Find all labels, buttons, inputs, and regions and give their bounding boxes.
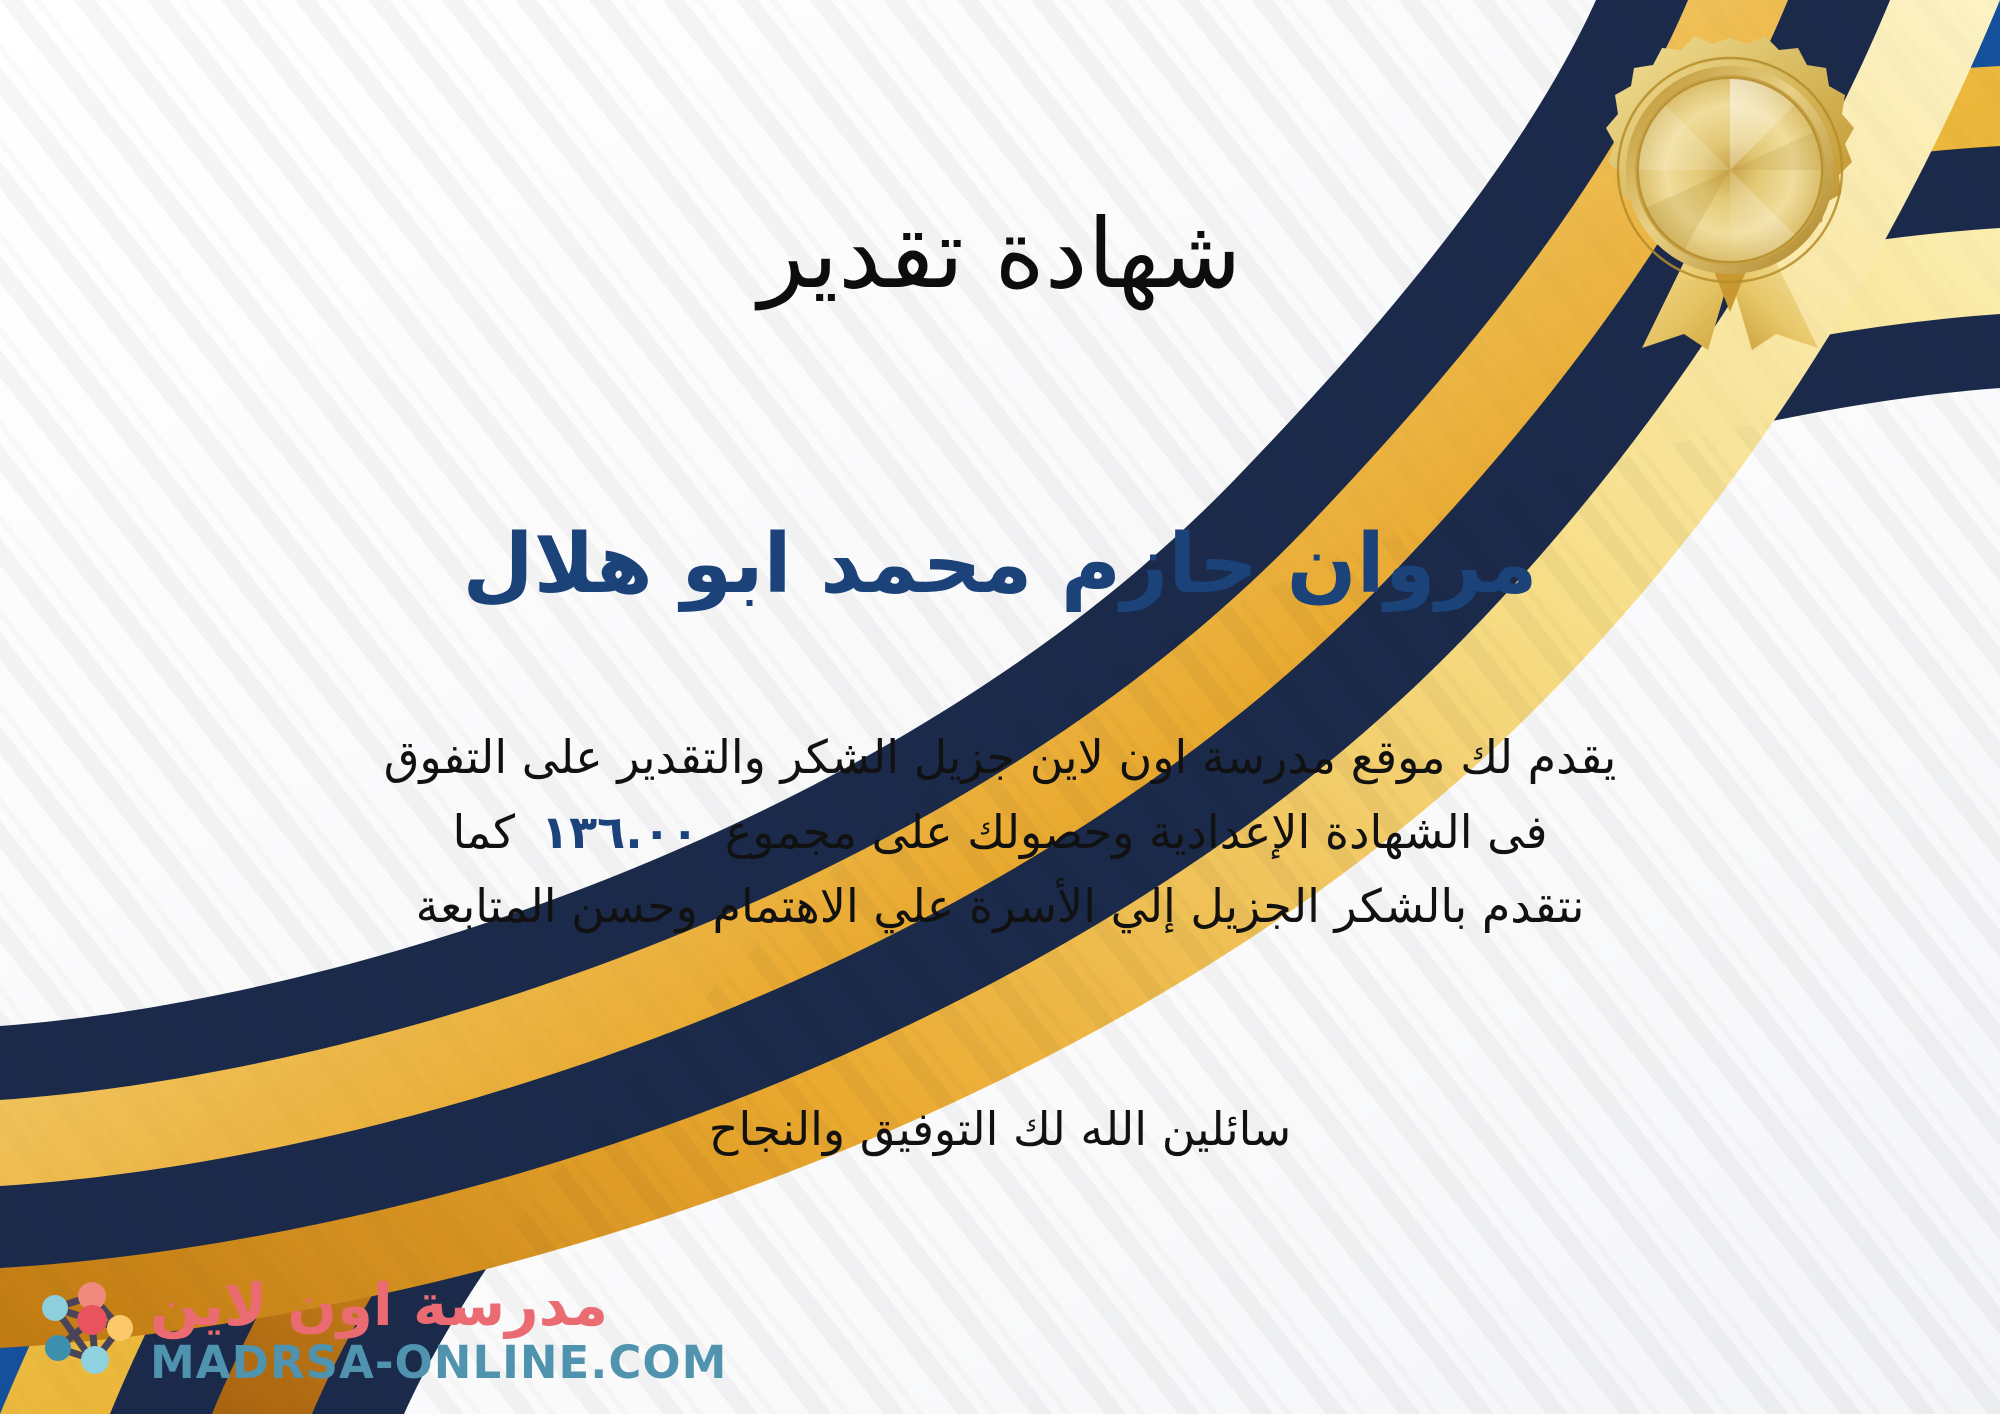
page-title: شهادة تقدير xyxy=(0,204,2000,305)
certificate-page: شهادة تقدير مروان حازم محمد ابو هلال يقد… xyxy=(0,0,2000,1414)
brand-website: MADRSA-ONLINE.COM xyxy=(150,1340,727,1385)
body-line-2-suffix: كما xyxy=(452,805,515,859)
body-line-1: يقدم لك موقع مدرسة اون لاين جزيل الشكر و… xyxy=(70,720,1930,795)
body-text: يقدم لك موقع مدرسة اون لاين جزيل الشكر و… xyxy=(70,720,1930,944)
closing-wish: سائلين الله لك التوفيق والنجاح xyxy=(0,1095,2000,1164)
brand-arabic-name: مدرسة اون لاين xyxy=(150,1276,608,1334)
network-nodes-icon xyxy=(28,1274,140,1386)
brand-logo[interactable]: مدرسة اون لاين MADRSA-ONLINE.COM xyxy=(28,1274,727,1386)
recipient-name: مروان حازم محمد ابو هلال xyxy=(0,520,2000,610)
body-line-2-prefix: فى الشهادة الإعدادية وحصولك على مجموع xyxy=(725,805,1548,859)
body-line-3: نتقدم بالشكر الجزيل إلي الأسرة علي الاهت… xyxy=(70,869,1930,944)
body-line-2: فى الشهادة الإعدادية وحصولك على مجموع١٣٦… xyxy=(70,795,1930,870)
grade-total-value: ١٣٦.٠٠ xyxy=(515,805,725,859)
